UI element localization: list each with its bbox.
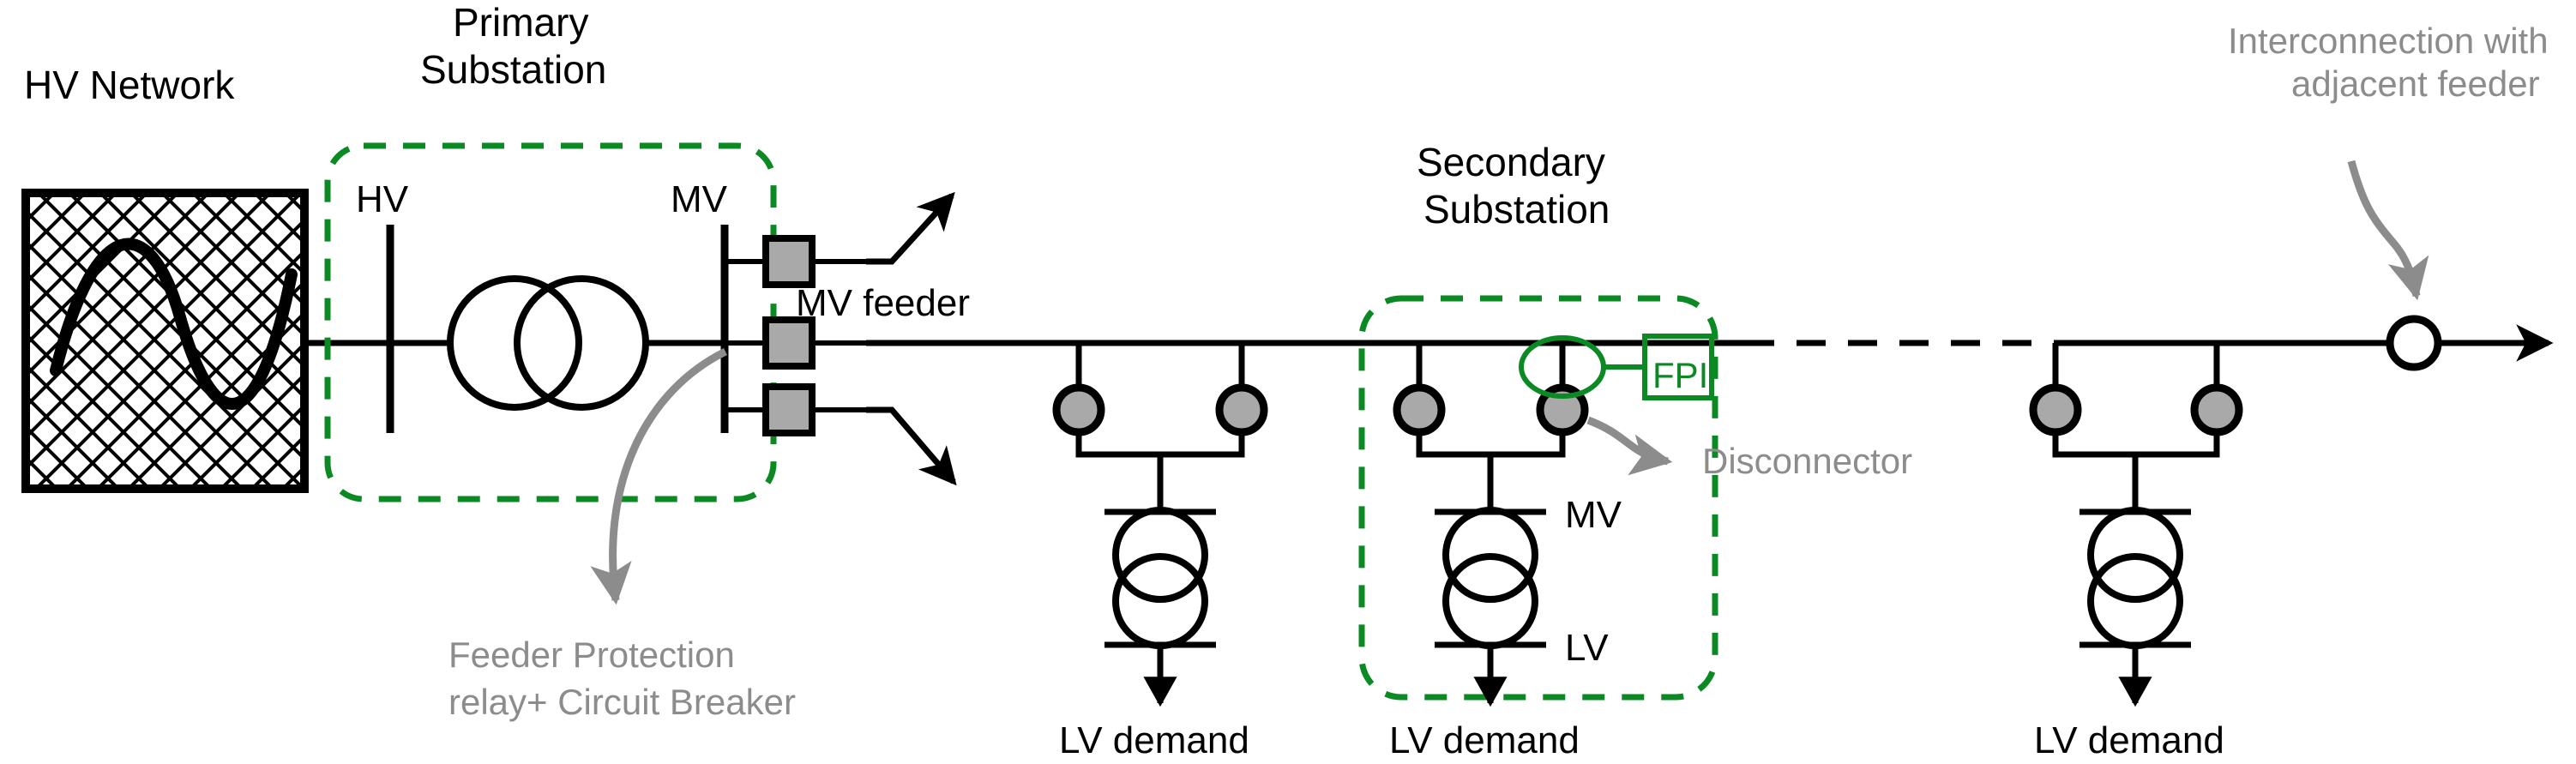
feeder-segment-4	[1419, 343, 1562, 394]
lv-demand-label-2: LV demand	[1389, 719, 1580, 761]
circuit-breaker-icon[interactable]	[725, 387, 866, 433]
branch-2-bus	[1419, 432, 1562, 454]
two-winding-transformer-icon	[450, 279, 646, 407]
feeder-segment-7	[2055, 343, 2217, 394]
normally-open-point-icon[interactable]	[2390, 319, 2438, 367]
primary-substation-title-line2: Substation	[420, 47, 606, 92]
primary-substation-group: Primary Substation HV MV	[328, 0, 866, 499]
secondary-substation-title-line1: Secondary	[1417, 140, 1605, 184]
interconnection-group: Interconnection with adjacent feeder	[2228, 21, 2549, 367]
disconnector-label: Disconnector	[1702, 441, 1912, 481]
disconnector-icon[interactable]	[2194, 388, 2239, 432]
circuit-breaker-icon[interactable]	[725, 238, 866, 285]
feeder-protection-label-line2: relay+ Circuit Breaker	[448, 682, 796, 722]
disconnector-callout: Disconnector	[1588, 420, 1912, 481]
secondary-substation-title-line2: Substation	[1423, 187, 1610, 232]
feeder-protection-label-line1: Feeder Protection	[448, 635, 735, 675]
outgoing-feeder-arrow-up	[866, 196, 952, 262]
lv-demand-label-1: LV demand	[1059, 719, 1249, 761]
feeder-segment-3	[1242, 343, 1419, 394]
feeder-segment-1	[866, 343, 1079, 394]
hv-network-group: HV Network	[24, 63, 390, 489]
branch-1-bus	[1079, 432, 1242, 454]
secondary-transformer-mv-label: MV	[1565, 494, 1622, 536]
callout-arrow-icon	[1588, 420, 1668, 461]
single-line-diagram-svg: HV Network Primary Substation HV MV	[0, 0, 2576, 764]
mv-feeder-label: MV feeder	[796, 282, 970, 324]
load-branch-3: LV demand	[2033, 388, 2239, 761]
disconnector-icon[interactable]	[1219, 388, 1264, 432]
two-winding-transformer-icon	[1446, 510, 1535, 646]
hv-network-label: HV Network	[24, 63, 235, 107]
secondary-substation-group: Secondary Substation FPI MV LV LV demand	[1362, 140, 1715, 761]
disconnector-icon[interactable]	[1056, 388, 1101, 432]
two-winding-transformer-icon	[1116, 510, 1205, 646]
load-branch-1: LV demand	[1056, 388, 1264, 761]
feeder-segment-2	[1079, 343, 1242, 394]
primary-substation-title-line1: Primary	[453, 0, 588, 45]
two-winding-transformer-icon	[2091, 510, 2180, 646]
interconnection-label-line1: Interconnection with	[2228, 21, 2549, 61]
disconnector-icon[interactable]	[1397, 388, 1441, 432]
outgoing-feeder-arrow-down	[866, 410, 954, 482]
circuit-breaker-icon[interactable]	[725, 320, 866, 366]
fpi-label: FPI	[1652, 355, 1708, 395]
network-diagram-root: HV Network Primary Substation HV MV	[0, 0, 2576, 764]
lv-demand-label-3: LV demand	[2034, 719, 2224, 761]
disconnector-icon[interactable]	[2033, 388, 2078, 432]
callout-arrow-icon	[2351, 161, 2417, 296]
hv-bus-label: HV	[356, 178, 409, 220]
mv-bus-label: MV	[671, 178, 728, 220]
branch-3-bus	[2055, 432, 2217, 454]
adjacent-feeder-arrows	[866, 196, 954, 482]
interconnection-label-line2: adjacent feeder	[2291, 63, 2540, 104]
secondary-transformer-lv-label: LV	[1565, 627, 1609, 669]
